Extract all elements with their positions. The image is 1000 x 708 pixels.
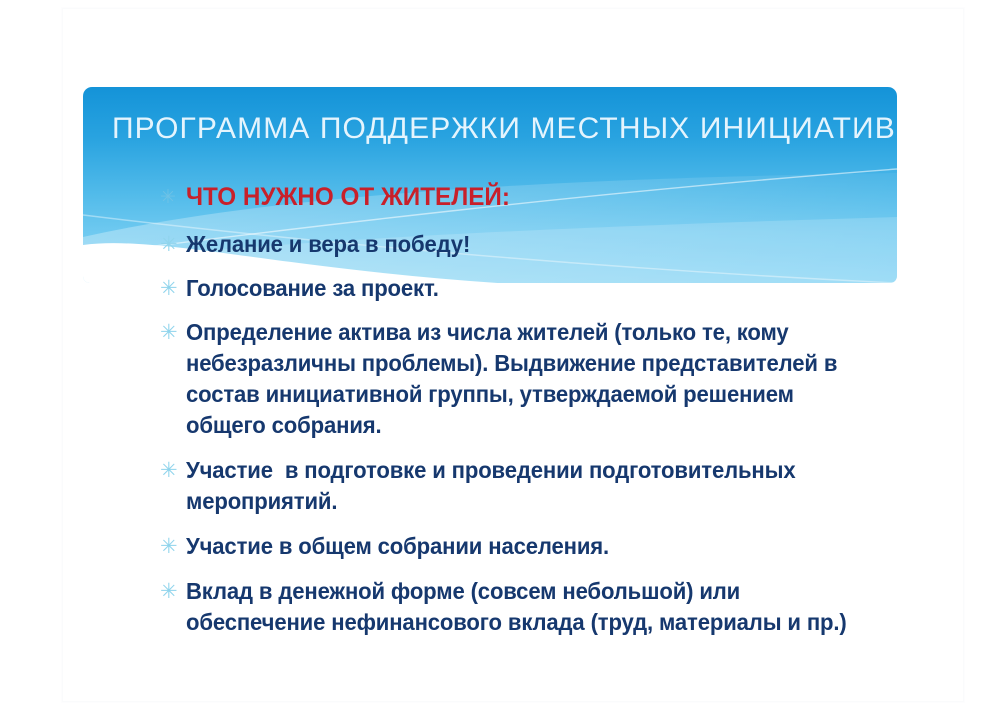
list-item-label: Желание и вера в победу! [186, 229, 857, 260]
asterisk-bullet-icon: ✳ [160, 182, 186, 212]
list-item-label: Участие в подготовке и проведении подгот… [186, 455, 857, 517]
section-heading: ЧТО НУЖНО ОТ ЖИТЕЛЕЙ: [186, 182, 879, 212]
slide: ПРОГРАММА ПОДДЕРЖКИ МЕСТНЫХ ИНИЦИАТИВ ✳ … [0, 0, 1000, 708]
list-item-heading: ✳ ЧТО НУЖНО ОТ ЖИТЕЛЕЙ: [160, 182, 900, 212]
asterisk-bullet-icon: ✳ [160, 455, 186, 486]
asterisk-bullet-icon: ✳ [160, 229, 186, 260]
asterisk-bullet-icon: ✳ [160, 273, 186, 304]
list-item-label: Участие в общем собрании населения. [186, 531, 857, 562]
list-item-label: Определение актива из числа жителей (тол… [186, 317, 857, 441]
list-item: ✳ Желание и вера в победу! [160, 229, 900, 260]
list-item: ✳ Участие в подготовке и проведении подг… [160, 455, 900, 517]
list-item: ✳ Голосование за проект. [160, 273, 900, 304]
list-item: ✳ Вклад в денежной форме (совсем небольш… [160, 576, 900, 638]
page-title: ПРОГРАММА ПОДДЕРЖКИ МЕСТНЫХ ИНИЦИАТИВ [112, 110, 902, 148]
asterisk-bullet-icon: ✳ [160, 531, 186, 562]
asterisk-bullet-icon: ✳ [160, 317, 186, 348]
asterisk-bullet-icon: ✳ [160, 576, 186, 607]
list-item: ✳ Определение актива из числа жителей (т… [160, 317, 900, 441]
bullet-list: ✳ ЧТО НУЖНО ОТ ЖИТЕЛЕЙ: ✳ Желание и вера… [160, 182, 900, 652]
list-item-label: Вклад в денежной форме (совсем небольшой… [186, 576, 857, 638]
list-item: ✳ Участие в общем собрании населения. [160, 531, 900, 562]
list-item-label: Голосование за проект. [186, 273, 857, 304]
